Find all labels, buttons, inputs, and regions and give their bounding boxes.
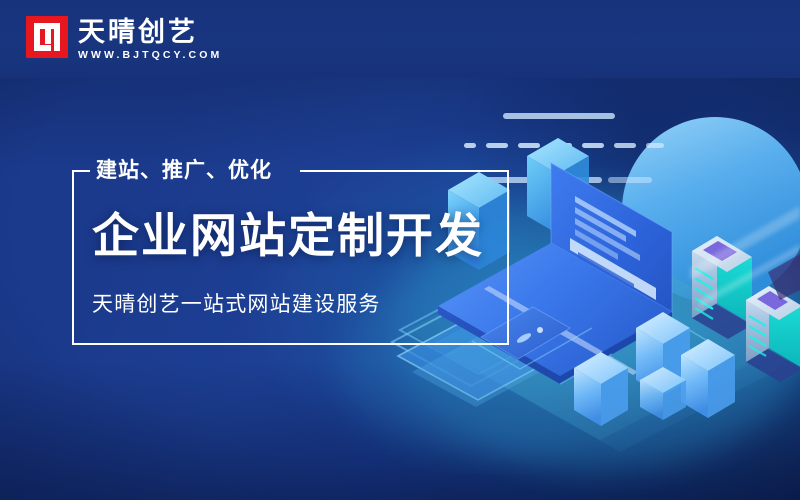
frame-line-top-left-stub: [72, 170, 90, 172]
hero-headline: 企业网站定制开发: [92, 208, 484, 264]
hero-kicker: 建站、推广、优化: [96, 157, 272, 185]
frame-line-left: [72, 170, 74, 345]
company-website: WWW.BJTQCY.COM: [78, 48, 222, 62]
promo-banner: 天晴创艺 WWW.BJTQCY.COM 建站、推广、优化 企业网站定制开发 天晴…: [0, 0, 800, 500]
header-bar: 天晴创艺 WWW.BJTQCY.COM: [0, 0, 800, 78]
frame-line-top-right: [300, 170, 509, 172]
company-name: 天晴创艺: [78, 17, 222, 47]
tianqing-logo-mark-icon: [26, 16, 68, 58]
frame-line-bottom: [72, 343, 509, 345]
hero-subline: 天晴创艺一站式网站建设服务: [92, 290, 381, 320]
logo-text-block: 天晴创艺 WWW.BJTQCY.COM: [78, 16, 222, 62]
frame-line-right: [507, 170, 509, 345]
logo[interactable]: 天晴创艺 WWW.BJTQCY.COM: [26, 16, 222, 62]
